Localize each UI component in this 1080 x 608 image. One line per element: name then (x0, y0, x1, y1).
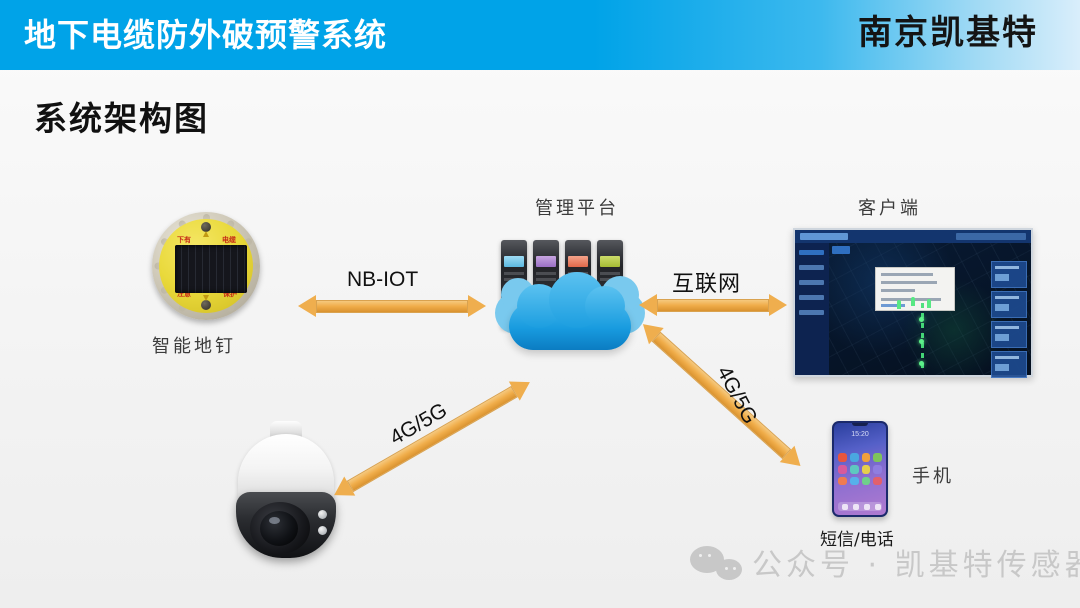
client-dashboard-screen (793, 228, 1033, 377)
nail-arrow-up-icon (203, 231, 209, 237)
arrow-head-left-icon (639, 294, 657, 316)
caption-management-platform: 管理平台 (535, 194, 619, 220)
phone-clock-widget: 15:20 (834, 431, 886, 438)
dashboard-map-pins (897, 297, 939, 311)
header-brand: 南京凯基特 (858, 12, 1038, 56)
arrow-label-internet: 互联网 (672, 266, 741, 298)
nail-text-top-right: 电缆 (222, 235, 236, 245)
caption-smart-ground-nail: 智能地钉 (152, 332, 236, 358)
nail-solar-panel (175, 245, 247, 293)
dashboard-right-panel-4 (991, 351, 1027, 378)
arrow-head-left-icon (298, 295, 316, 317)
arrow-head-right-icon (468, 295, 486, 317)
cloud-foreground-shape (509, 302, 631, 350)
dashboard-map-dot (919, 317, 924, 322)
dashboard-topbar (795, 230, 1031, 243)
dashboard-topbar-tools (956, 233, 1026, 240)
header-bar: 地下电缆防外破预警系统 南京凯基特 (0, 0, 1080, 70)
camera-lens-ring (250, 502, 310, 554)
dashboard-sidebar (795, 243, 829, 375)
arrow-head-right-icon (769, 294, 787, 316)
watermark: 公众号 · 凯基特传感器 (690, 540, 1080, 584)
caption-phone: 手机 (912, 462, 954, 488)
dashboard-right-panel-2 (991, 291, 1027, 318)
arrow-nbiot (316, 300, 468, 313)
dashboard-map-dot (919, 339, 924, 344)
dashboard-right-panel-3 (991, 321, 1027, 348)
smartphone-device: 15:20 (832, 421, 888, 517)
camera-ir-led-1 (318, 510, 327, 519)
header-title: 地下电缆防外破预警系统 (24, 15, 387, 55)
camera-ir-led-2 (318, 526, 327, 535)
caption-client: 客户端 (858, 194, 921, 220)
arrow-label-nbiot: NB-IOT (347, 268, 418, 292)
dashboard-map-area (829, 243, 1031, 375)
camera-body (236, 492, 336, 558)
wechat-icon (690, 544, 742, 580)
nail-arrow-down-icon (203, 295, 209, 301)
nail-text-top-left: 下有 (177, 235, 191, 245)
nail-yellow-face: 下有 电缆 注意 保护 (159, 219, 253, 313)
slide-canvas: 地下电缆防外破预警系统 南京凯基特 系统架构图 下有 电缆 注意 保护 智能地钉 (0, 0, 1080, 608)
dashboard-map-dot (919, 361, 924, 366)
smart-ground-nail-device: 下有 电缆 注意 保护 (152, 212, 260, 320)
phone-dock (838, 502, 882, 511)
arrow-4g5g-phone (652, 332, 791, 459)
ptz-camera-device (232, 418, 340, 568)
dashboard-right-panel-1 (991, 261, 1027, 288)
dashboard-map-tab (832, 246, 850, 254)
camera-lens-glint (269, 517, 280, 524)
dashboard-logo (800, 233, 848, 240)
watermark-text: 公众号 · 凯基特传感器 (752, 540, 1080, 584)
page-title: 系统架构图 (34, 92, 209, 140)
camera-lens (260, 511, 298, 546)
nail-bolt-bottom (201, 300, 211, 310)
arrow-internet (657, 299, 769, 312)
management-platform-node (495, 240, 645, 370)
phone-app-grid (838, 453, 882, 485)
phone-notch (852, 423, 868, 426)
phone-screen: 15:20 (834, 423, 886, 515)
